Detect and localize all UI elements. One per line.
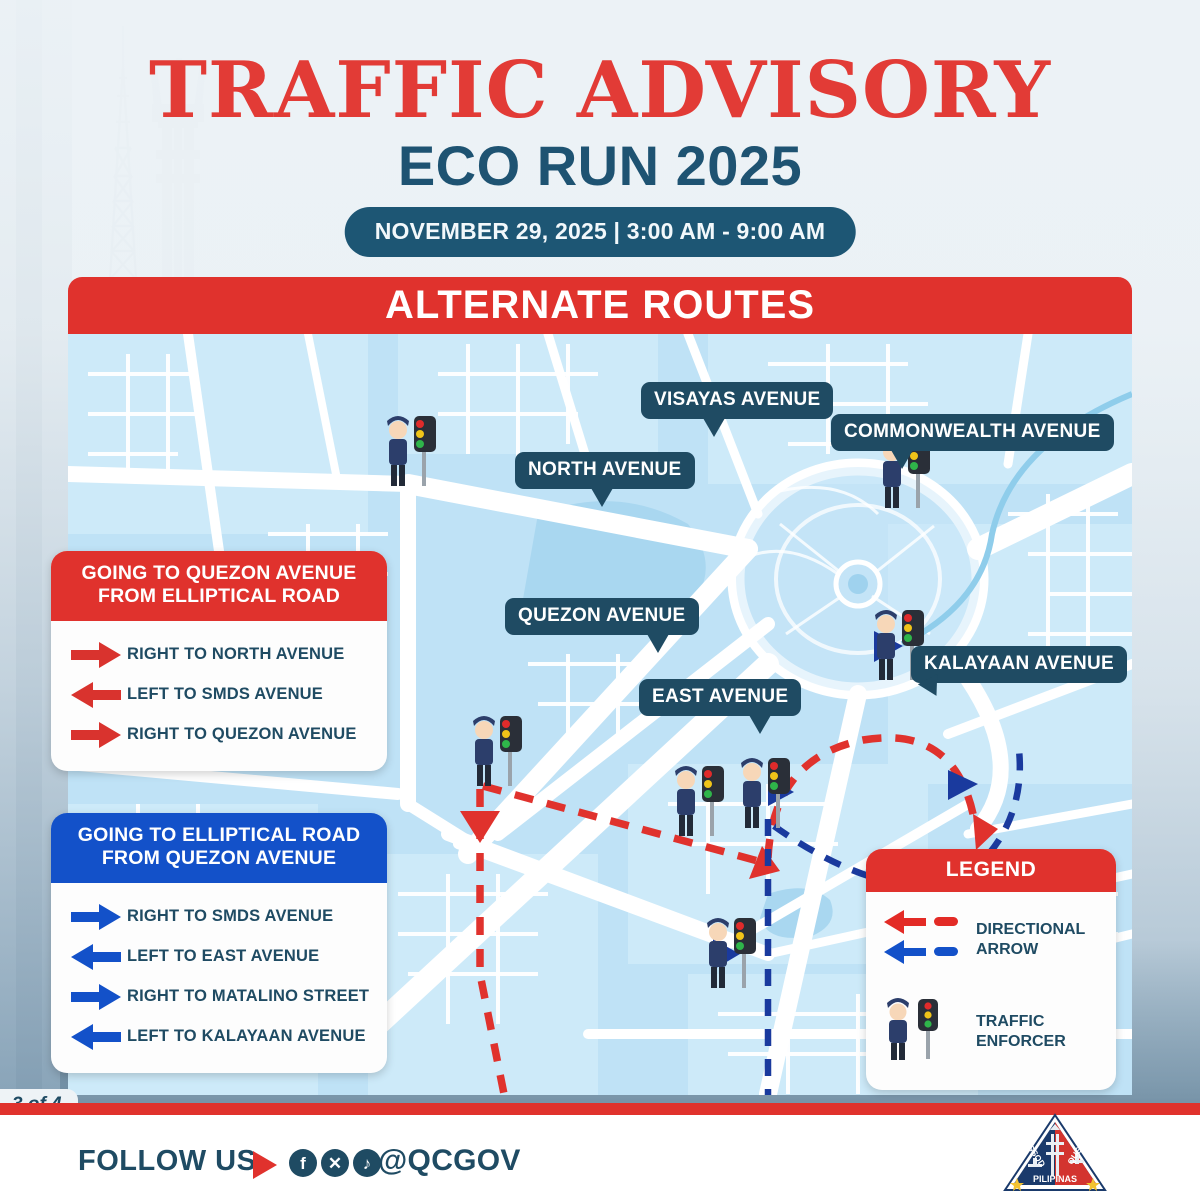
arrow-left-icon	[65, 1024, 127, 1050]
card-red-body: RIGHT TO NORTH AVENUE LEFT TO SMDS AVENU…	[51, 621, 387, 771]
route-step-text: RIGHT TO QUEZON AVENUE	[127, 725, 357, 744]
route-step-text: RIGHT TO NORTH AVENUE	[127, 645, 344, 664]
traffic-advisory-poster: TRAFFIC ADVISORY ECO RUN 2025 NOVEMBER 2…	[0, 0, 1200, 1200]
route-step-text: LEFT TO KALAYAAN AVENUE	[127, 1027, 366, 1046]
legend-item-label: TRAFFIC ENFORCER	[976, 1012, 1066, 1052]
facebook-icon[interactable]: f	[289, 1149, 317, 1177]
page-title: TRAFFIC ADVISORY	[0, 52, 1200, 130]
arrow-left-icon	[65, 682, 127, 708]
follow-us-label: FOLLOW US	[78, 1145, 256, 1178]
arrow-left-icon	[65, 944, 127, 970]
legend-label-line1: DIRECTIONAL	[976, 921, 1085, 938]
route-step-row: LEFT TO SMDS AVENUE	[65, 675, 373, 715]
route-step-text: RIGHT TO SMDS AVENUE	[127, 907, 333, 926]
map-label-east-avenue-text: EAST AVENUE	[652, 686, 788, 707]
play-triangle-icon	[253, 1151, 277, 1179]
x-twitter-icon[interactable]: ✕	[321, 1149, 349, 1177]
map-label-north-avenue-text: NORTH AVENUE	[528, 459, 682, 480]
tiktok-icon[interactable]: ♪	[353, 1149, 381, 1177]
card-red-title-line2: FROM ELLIPTICAL ROAD	[61, 585, 377, 608]
legend-card: LEGEND DIRECTIONAL ARROW	[866, 849, 1116, 1090]
legend-item-label: DIRECTIONAL ARROW	[976, 920, 1085, 960]
map-label-north-avenue: NORTH AVENUE	[515, 452, 695, 489]
legend-label-line1: TRAFFIC	[976, 1013, 1044, 1030]
route-step-text: LEFT TO EAST AVENUE	[127, 947, 319, 966]
map-label-east-avenue: EAST AVENUE	[639, 679, 801, 716]
card-blue-title-line2: FROM QUEZON AVENUE	[61, 847, 377, 870]
map-label-commonwealth-avenue: COMMONWEALTH AVENUE	[831, 414, 1114, 451]
route-step-text: LEFT TO SMDS AVENUE	[127, 685, 323, 704]
card-red-header: GOING TO QUEZON AVENUE FROM ELLIPTICAL R…	[51, 551, 387, 621]
route-step-row: RIGHT TO NORTH AVENUE	[65, 635, 373, 675]
route-step-row: LEFT TO EAST AVENUE	[65, 937, 373, 977]
social-icons-group: f ✕ ♪	[289, 1149, 381, 1177]
legend-label-line2: ARROW	[976, 941, 1038, 958]
seal-bottom-text: PILIPINAS	[1033, 1174, 1077, 1184]
legend-title: LEGEND	[866, 849, 1116, 892]
route-step-row: RIGHT TO MATALINO STREET	[65, 977, 373, 1017]
map-label-visayas-avenue: VISAYAS AVENUE	[641, 382, 833, 419]
label-tail	[749, 715, 771, 734]
directional-arrow-icon	[884, 908, 976, 971]
map-label-kalayaan-avenue: KALAYAAN AVENUE	[911, 646, 1127, 683]
card-going-to-elliptical-road: GOING TO ELLIPTICAL ROAD FROM QUEZON AVE…	[51, 813, 387, 1073]
map-label-visayas-avenue-text: VISAYAS AVENUE	[654, 389, 820, 410]
route-step-text: RIGHT TO MATALINO STREET	[127, 987, 369, 1006]
label-tail	[591, 488, 613, 507]
map-label-quezon-avenue-text: QUEZON AVENUE	[518, 605, 686, 626]
card-red-title-line1: GOING TO QUEZON AVENUE	[61, 562, 377, 585]
arrow-right-icon	[65, 984, 127, 1010]
route-step-row: RIGHT TO SMDS AVENUE	[65, 897, 373, 937]
event-datetime-pill: NOVEMBER 29, 2025 | 3:00 AM - 9:00 AM	[345, 207, 856, 257]
arrow-right-icon	[65, 904, 127, 930]
label-tail	[703, 418, 725, 437]
card-going-to-quezon-avenue: GOING TO QUEZON AVENUE FROM ELLIPTICAL R…	[51, 551, 387, 771]
route-step-row: LEFT TO KALAYAAN AVENUE	[65, 1017, 373, 1057]
route-step-row: RIGHT TO QUEZON AVENUE	[65, 715, 373, 755]
label-tail	[891, 450, 913, 469]
legend-item-traffic-enforcer: TRAFFIC ENFORCER	[884, 997, 1098, 1066]
arrow-right-icon	[65, 642, 127, 668]
traffic-enforcer-icon	[884, 997, 976, 1066]
social-handle: @QCGOV	[378, 1144, 521, 1178]
card-blue-header: GOING TO ELLIPTICAL ROAD FROM QUEZON AVE…	[51, 813, 387, 883]
arrow-right-icon	[65, 722, 127, 748]
card-blue-body: RIGHT TO SMDS AVENUE LEFT TO EAST AVENUE…	[51, 883, 387, 1073]
legend-label-line2: ENFORCER	[976, 1033, 1066, 1050]
map-label-kalayaan-avenue-text: KALAYAAN AVENUE	[924, 653, 1114, 674]
quezon-city-seal: PILIPINAS LUNGSOD QUEZON	[1000, 1112, 1110, 1196]
legend-body: DIRECTIONAL ARROW	[866, 892, 1116, 1090]
page-subtitle: ECO RUN 2025	[0, 138, 1200, 194]
card-blue-title-line1: GOING TO ELLIPTICAL ROAD	[61, 824, 377, 847]
map-label-commonwealth-avenue-text: COMMONWEALTH AVENUE	[844, 421, 1101, 442]
alternate-routes-banner: ALTERNATE ROUTES	[68, 277, 1132, 334]
legend-item-directional-arrow: DIRECTIONAL ARROW	[884, 908, 1098, 971]
label-tail	[647, 634, 669, 653]
map-label-quezon-avenue: QUEZON AVENUE	[505, 598, 699, 635]
